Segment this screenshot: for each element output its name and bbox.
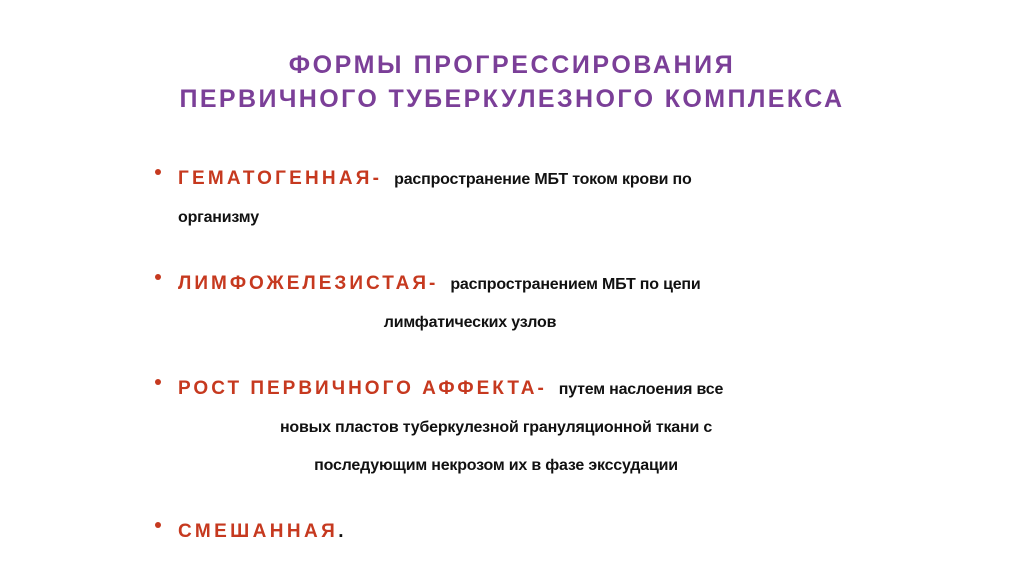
list-item: СМЕШАННАЯ. — [0, 513, 1024, 552]
title-line-2: ПЕРВИЧНОГО ТУБЕРКУЛЕЗНОГО КОМПЛЕКСА — [0, 82, 1024, 116]
bullet-dot-icon — [155, 274, 161, 280]
list-item-period: . — [338, 521, 343, 542]
bullet-list: ГЕМАТОГЕННАЯ-распространение МБТ током к… — [0, 160, 1024, 552]
list-item: ЛИМФОЖЕЛЕЗИСТАЯ-распространением МБТ по … — [0, 265, 1024, 342]
list-item-content: ГЕМАТОГЕННАЯ-распространение МБТ током к… — [0, 160, 1024, 237]
list-item-content: ЛИМФОЖЕЛЕЗИСТАЯ-распространением МБТ по … — [0, 265, 1024, 342]
bullet-dot-icon — [155, 379, 161, 385]
page-title: ФОРМЫ ПРОГРЕССИРОВАНИЯ ПЕРВИЧНОГО ТУБЕРК… — [0, 48, 1024, 116]
list-item-content: РОСТ ПЕРВИЧНОГО АФФЕКТА-путем наслоения … — [0, 370, 1024, 485]
list-item-body-line-1: распространением МБТ по цепи — [450, 276, 700, 293]
list-item-content: СМЕШАННАЯ. — [0, 513, 1024, 552]
list-item-heading: РОСТ ПЕРВИЧНОГО АФФЕКТА- — [178, 378, 547, 399]
bullet-dot-icon — [155, 522, 161, 528]
list-item-body-line-3: последующим некрозом их в фазе экссудаци… — [178, 447, 834, 485]
list-item-body-line-1: путем наслоения все — [559, 381, 723, 398]
title-line-1: ФОРМЫ ПРОГРЕССИРОВАНИЯ — [0, 48, 1024, 82]
bullet-dot-icon — [155, 169, 161, 175]
list-item-body-line-2: новых пластов туберкулезной грануляционн… — [178, 409, 834, 447]
list-item: ГЕМАТОГЕННАЯ-распространение МБТ током к… — [0, 160, 1024, 237]
slide: ФОРМЫ ПРОГРЕССИРОВАНИЯ ПЕРВИЧНОГО ТУБЕРК… — [0, 0, 1024, 574]
list-item-heading: СМЕШАННАЯ — [178, 521, 338, 542]
list-item-heading: ГЕМАТОГЕННАЯ- — [178, 168, 382, 189]
list-item: РОСТ ПЕРВИЧНОГО АФФЕКТА-путем наслоения … — [0, 370, 1024, 485]
list-item-heading: ЛИМФОЖЕЛЕЗИСТАЯ- — [178, 273, 438, 294]
list-item-body-line-1: распространение МБТ током крови по — [394, 171, 691, 188]
list-item-body-line-2: лимфатических узлов — [178, 304, 796, 342]
list-item-body-line-2: организму — [178, 209, 305, 226]
